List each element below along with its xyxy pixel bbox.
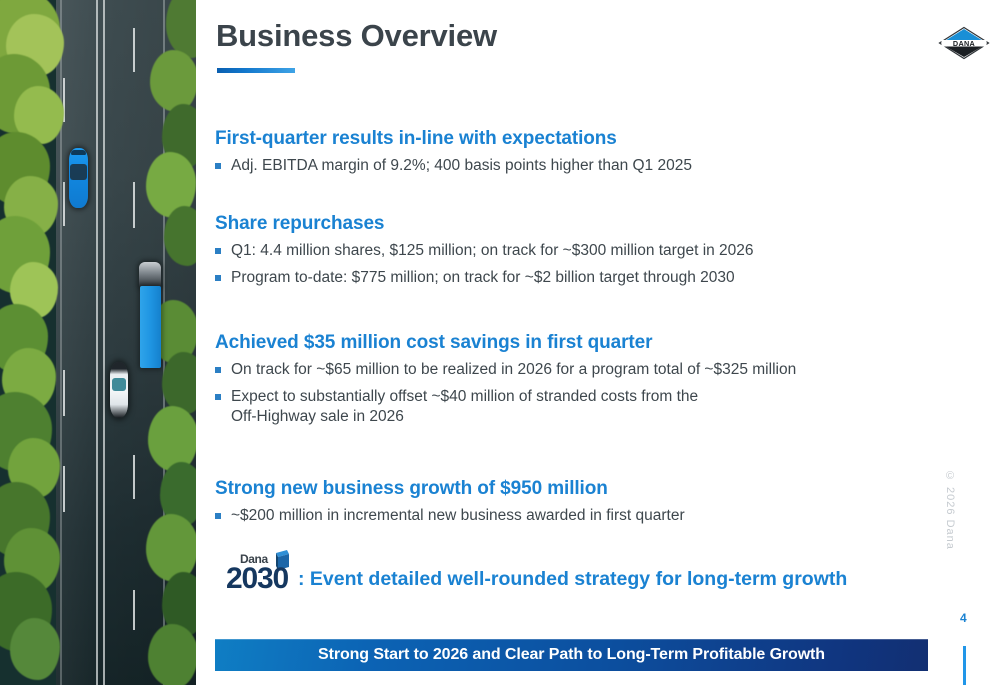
list-item: Q1: 4.4 million shares, $125 million; on… (215, 241, 754, 262)
bullet-text: Program to-date: $775 million; on track … (231, 268, 735, 289)
copyright-notice: © 2026 Dana (938, 470, 956, 550)
bullet-square-icon (215, 394, 221, 400)
section-heading: Strong new business growth of $950 milli… (215, 478, 685, 500)
bullet-square-icon (215, 248, 221, 254)
bullet-text: On track for ~$65 million to be realized… (231, 360, 796, 381)
section-heading: First-quarter results in-line with expec… (215, 128, 692, 150)
bullet-text: Expect to substantially offset ~$40 mill… (231, 387, 698, 428)
bullet-text: ~$200 million in incremental new busines… (231, 506, 685, 527)
bullet-square-icon (215, 163, 221, 169)
summary-banner: Strong Start to 2026 and Clear Path to L… (215, 639, 928, 671)
section-heading: Achieved $35 million cost savings in fir… (215, 332, 796, 354)
list-item: Adj. EBITDA margin of 9.2%; 400 basis po… (215, 156, 692, 177)
lane-dash (133, 182, 135, 228)
summary-banner-text: Strong Start to 2026 and Clear Path to L… (318, 646, 825, 664)
dana-2030-lockup: Dana 2030 (226, 552, 296, 594)
title-underline-rule (217, 68, 295, 73)
page-title: Business Overview (216, 18, 497, 54)
dana-corporate-logo-icon: DANA (938, 26, 990, 60)
section-heading: Share repurchases (215, 213, 754, 235)
lane-dash (133, 590, 135, 630)
vehicle-truck-trailer (140, 286, 161, 368)
dana-2030-year: 2030 (226, 562, 288, 596)
section-new-business-growth: Strong new business growth of $950 milli… (215, 478, 685, 527)
page-number: 4 (960, 611, 967, 625)
dana-logo-text: DANA (953, 39, 976, 48)
bullet-square-icon (215, 513, 221, 519)
tree-canopy-left (0, 0, 72, 685)
lane-dash (133, 28, 135, 72)
vehicle-white-car (110, 362, 128, 418)
dana-2030-callout: Dana 2030 : Event detailed well-rounded … (226, 552, 847, 594)
hero-photo-aerial-highway (0, 0, 196, 685)
bullet-text: Q1: 4.4 million shares, $125 million; on… (231, 241, 754, 262)
vehicle-blue-car (69, 148, 88, 208)
list-item: ~$200 million in incremental new busines… (215, 506, 685, 527)
dana-2030-statement: : Event detailed well-rounded strategy f… (298, 568, 847, 594)
list-item: Program to-date: $775 million; on track … (215, 268, 754, 289)
road-center-line-a (96, 0, 98, 685)
bullet-text: Adj. EBITDA margin of 9.2%; 400 basis po… (231, 156, 692, 177)
list-item: Expect to substantially offset ~$40 mill… (215, 387, 796, 428)
corner-accent-rule (963, 646, 966, 685)
section-share-repurchases: Share repurchases Q1: 4.4 million shares… (215, 213, 754, 288)
bullet-square-icon (215, 367, 221, 373)
lane-dash (133, 455, 135, 499)
road-center-line-b (103, 0, 105, 685)
list-item: On track for ~$65 million to be realized… (215, 360, 796, 381)
section-first-quarter-results: First-quarter results in-line with expec… (215, 128, 692, 177)
bullet-square-icon (215, 275, 221, 281)
vehicle-truck-cab (139, 262, 161, 287)
section-cost-savings: Achieved $35 million cost savings in fir… (215, 332, 796, 428)
